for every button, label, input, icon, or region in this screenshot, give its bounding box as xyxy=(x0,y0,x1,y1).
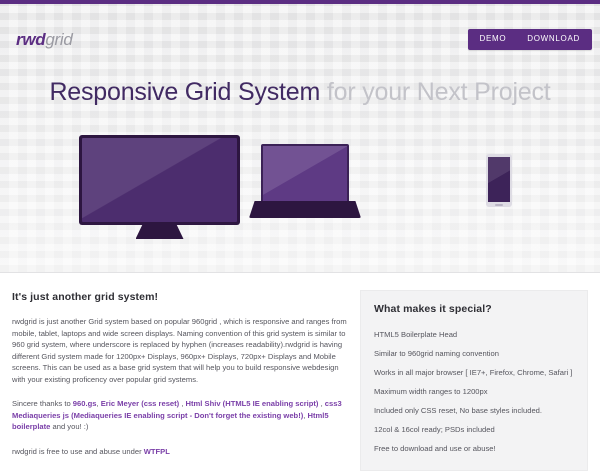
phone-home-button xyxy=(495,204,503,206)
headline-strong-text: Responsive Grid System xyxy=(49,78,320,106)
headline-light-text: for your Next Project xyxy=(320,78,550,106)
link-html-shiv[interactable]: Html Shiv (HTML5 IE enabling script) xyxy=(186,399,319,408)
nav-download-button[interactable]: DOWNLOAD xyxy=(517,29,592,50)
list-item: 12col & 16col ready; PSDs included xyxy=(374,424,574,435)
link-960gs[interactable]: 960.gs xyxy=(73,399,97,408)
logo-text-primary: rwd xyxy=(16,30,45,49)
monitor-frame xyxy=(79,135,240,225)
credits-outro: and you! :) xyxy=(50,422,88,431)
device-illustrations xyxy=(0,129,600,239)
intro-paragraph: rwdgrid is just another Grid system base… xyxy=(12,316,348,385)
content-area: It's just another grid system! rwdgrid i… xyxy=(0,273,600,471)
credits-intro: Sincere thanks to xyxy=(12,399,73,408)
desktop-monitor-icon xyxy=(79,135,240,239)
laptop-screen xyxy=(263,146,347,201)
nav-demo-button[interactable]: DEMO xyxy=(468,29,517,50)
phone-frame xyxy=(486,154,512,207)
features-panel: What makes it special? HTML5 Boilerplate… xyxy=(360,290,588,471)
list-item: Maximum width ranges to 1200px xyxy=(374,386,574,397)
main-nav: DEMO DOWNLOAD xyxy=(468,29,592,50)
site-logo[interactable]: rwdgrid xyxy=(16,30,72,50)
monitor-stand xyxy=(136,225,184,239)
list-item: HTML5 Boilerplate Head xyxy=(374,329,574,340)
license-text: rwdgrid is free to use and abuse under xyxy=(12,447,144,456)
laptop-icon xyxy=(249,144,361,218)
list-item: Free to download and use or abuse! xyxy=(374,443,574,454)
list-item: Included only CSS reset, No base styles … xyxy=(374,405,574,416)
link-eric-meyer[interactable]: Eric Meyer (css reset) xyxy=(101,399,180,408)
logo-text-secondary: grid xyxy=(45,30,72,49)
laptop-base xyxy=(249,201,361,218)
page-title: It's just another grid system! xyxy=(12,291,348,303)
main-column: It's just another grid system! rwdgrid i… xyxy=(12,291,348,457)
link-wtfpl[interactable]: WTFPL xyxy=(144,447,170,456)
credits-paragraph: Sincere thanks to 960.gs, Eric Meyer (cs… xyxy=(12,398,348,433)
list-item: Works in all major browser [ IE7+, Firef… xyxy=(374,367,574,378)
laptop-lid xyxy=(261,144,349,201)
license-paragraph: rwdgrid is free to use and abuse under W… xyxy=(12,446,348,458)
hero-headline: Responsive Grid System for your Next Pro… xyxy=(0,78,600,107)
site-header: rwdgrid DEMO DOWNLOAD xyxy=(0,4,600,66)
hero-section: rwdgrid DEMO DOWNLOAD Responsive Grid Sy… xyxy=(0,4,600,273)
features-panel-title: What makes it special? xyxy=(374,303,574,315)
monitor-screen xyxy=(82,138,237,222)
feature-list: HTML5 Boilerplate Head Similar to 960gri… xyxy=(374,329,574,454)
phone-screen xyxy=(488,157,510,202)
list-item: Similar to 960grid naming convention xyxy=(374,348,574,359)
mobile-phone-icon xyxy=(486,154,512,207)
